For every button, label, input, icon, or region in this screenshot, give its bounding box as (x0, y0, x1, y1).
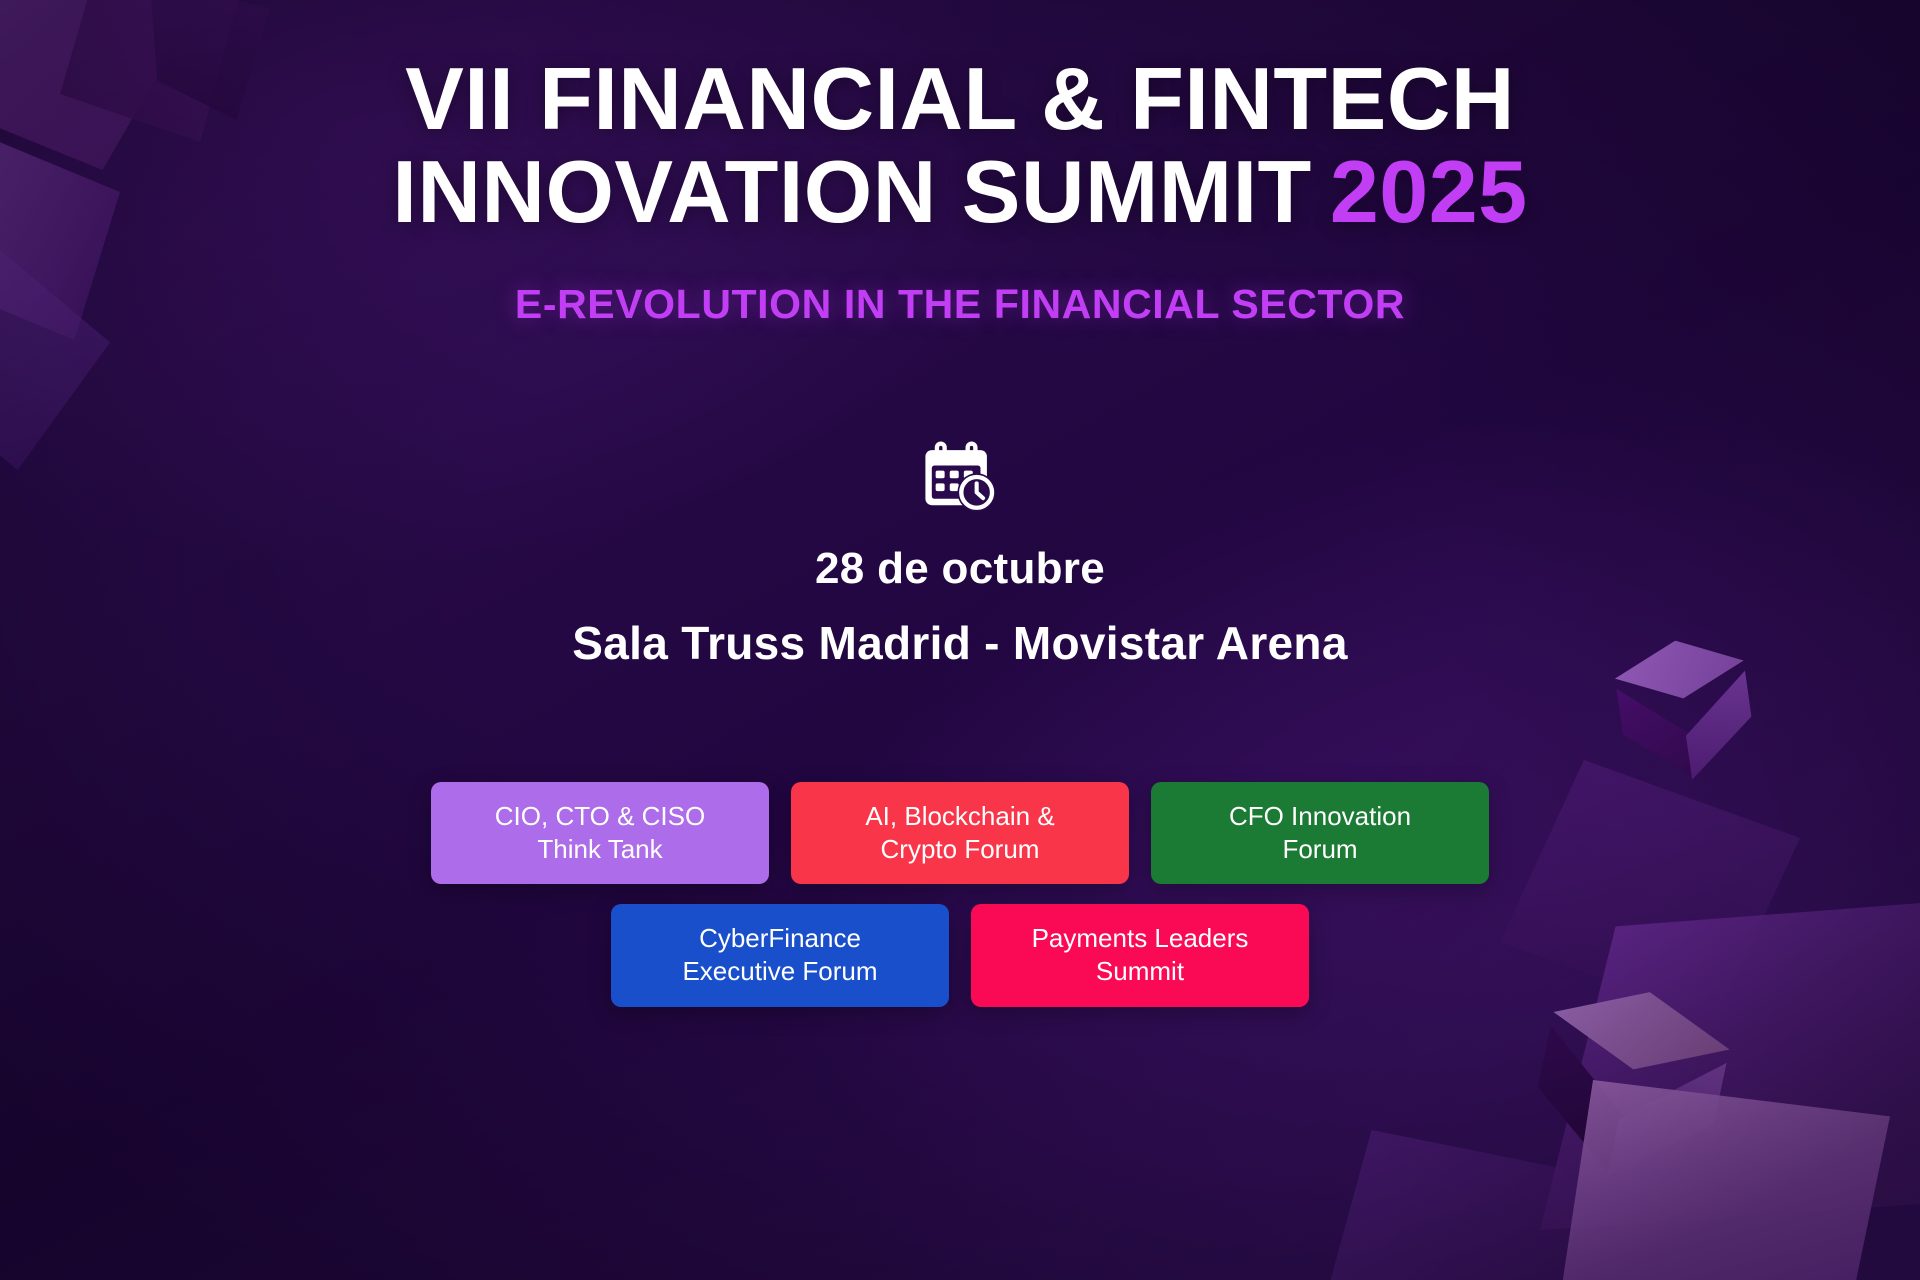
event-title-line-2-text: INNOVATION SUMMIT (392, 142, 1311, 241)
event-when-block: 28 de octubre Sala Truss Madrid - Movist… (572, 436, 1347, 670)
calendar-clock-icon (919, 436, 1001, 518)
track-badge-row-2: CyberFinance Executive Forum Payments Le… (611, 904, 1309, 1007)
track-badge-row-1: CIO, CTO & CISO Think Tank AI, Blockchai… (431, 782, 1489, 885)
event-year: 2025 (1330, 142, 1528, 241)
track-badges: CIO, CTO & CISO Think Tank AI, Blockchai… (380, 782, 1540, 1007)
event-title-block: VII FINANCIAL & FINTECH INNOVATION SUMMI… (0, 52, 1920, 239)
event-venue: Sala Truss Madrid - Movistar Arena (572, 616, 1347, 670)
track-badge-payments-leaders[interactable]: Payments Leaders Summit (971, 904, 1309, 1007)
event-date: 28 de octubre (572, 544, 1347, 594)
event-poster: VII FINANCIAL & FINTECH INNOVATION SUMMI… (0, 0, 1920, 1280)
track-badge-ai-blockchain-crypto[interactable]: AI, Blockchain & Crypto Forum (791, 782, 1129, 885)
track-badge-cfo-innovation[interactable]: CFO Innovation Forum (1151, 782, 1489, 885)
event-title-line-1: VII FINANCIAL & FINTECH (0, 52, 1920, 145)
event-title-line-2: INNOVATION SUMMIT2025 (0, 145, 1920, 238)
poster-content: VII FINANCIAL & FINTECH INNOVATION SUMMI… (0, 0, 1920, 1280)
track-badge-cio-cto-ciso[interactable]: CIO, CTO & CISO Think Tank (431, 782, 769, 885)
track-badge-cyberfinance-executive[interactable]: CyberFinance Executive Forum (611, 904, 949, 1007)
event-subtitle: E-REVOLUTION IN THE FINANCIAL SECTOR (515, 281, 1405, 328)
